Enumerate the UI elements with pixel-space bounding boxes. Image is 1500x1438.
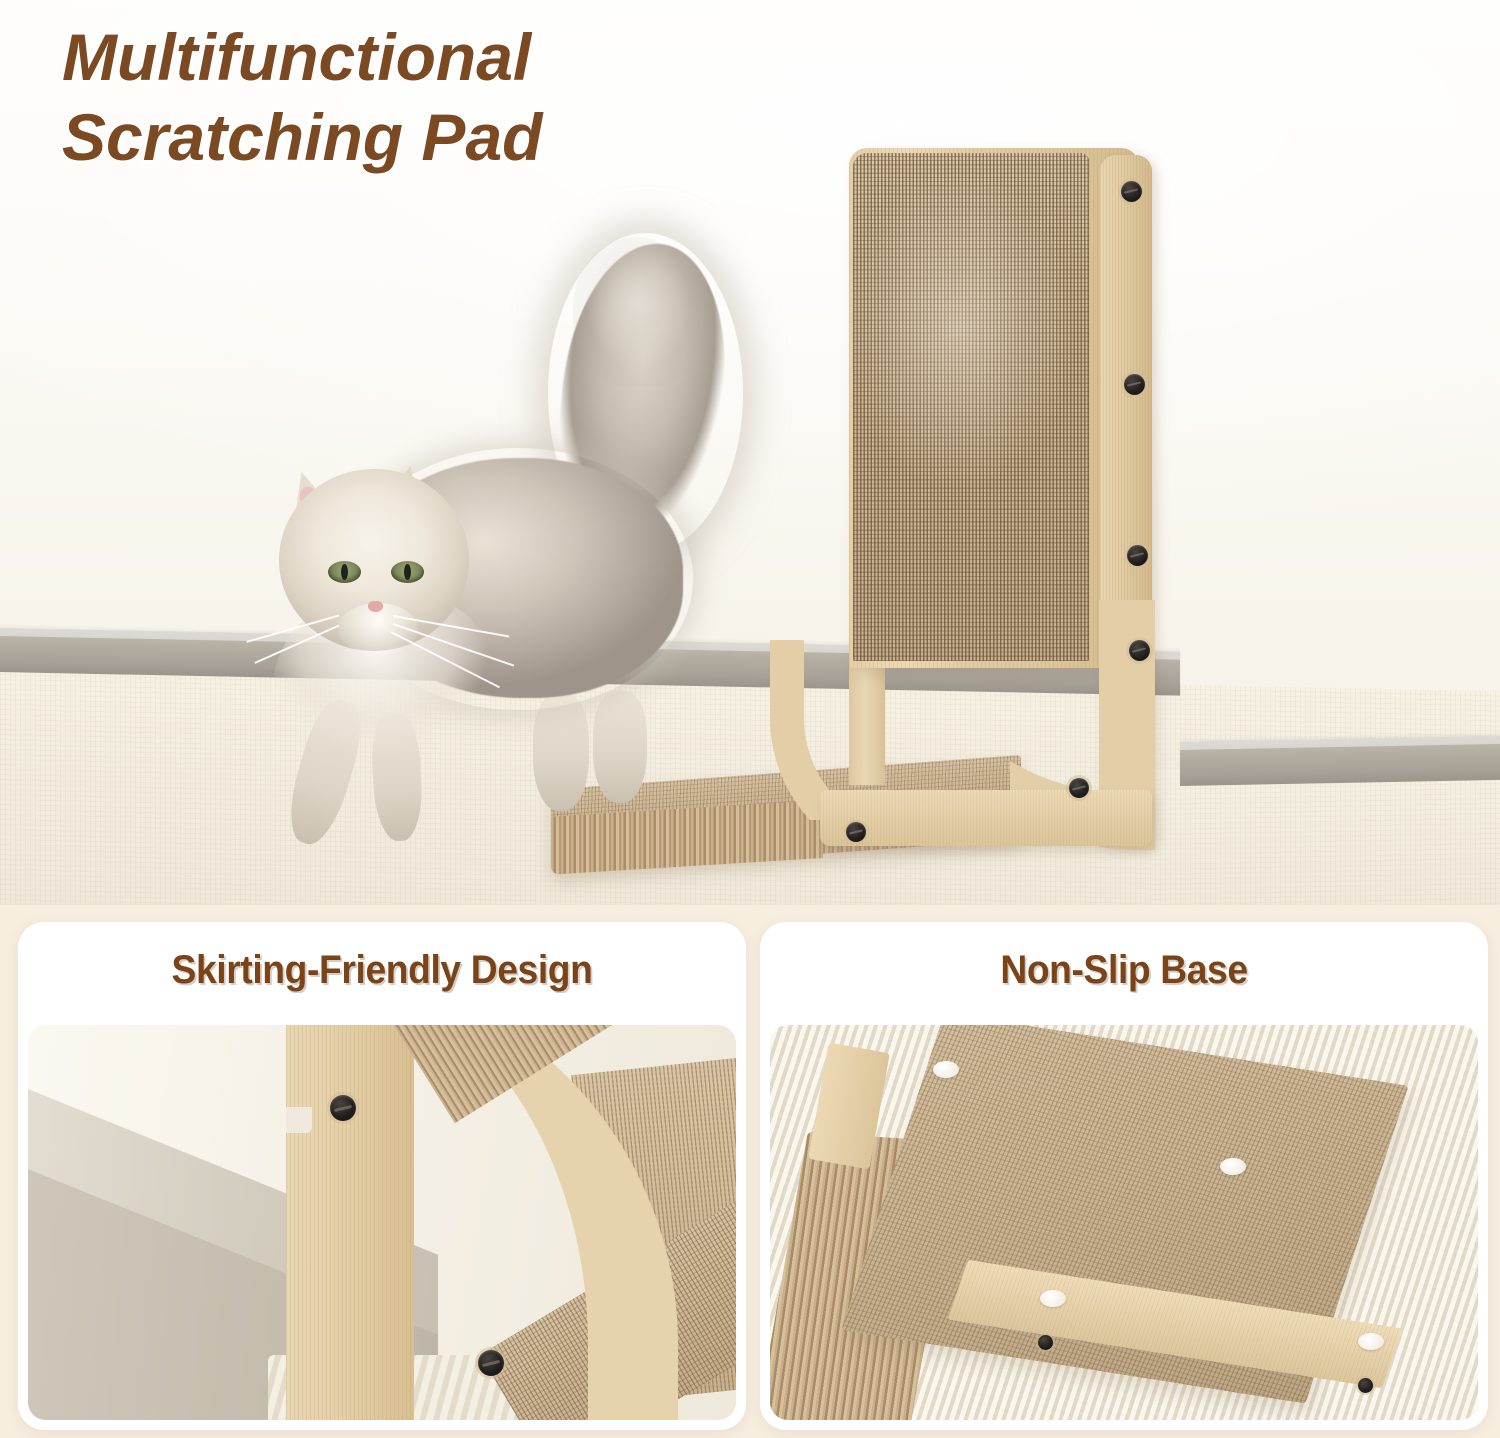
cat-tail-tip	[573, 237, 703, 387]
feature-cards: Skirting-Friendly Design Non-Slip Ba	[0, 905, 1500, 1438]
non-slip-foot-pad	[1220, 1158, 1246, 1175]
page-title-line2: Scratching Pad	[62, 100, 544, 174]
screw-cap-icon	[1124, 374, 1145, 395]
screw-cap-icon	[1127, 545, 1148, 566]
skirting-board-right	[1180, 736, 1500, 786]
cat-eye-right	[391, 561, 424, 583]
wood-grain-texture-foot	[820, 790, 1152, 846]
card-title-nonslip: Non-Slip Base	[785, 948, 1462, 993]
detail-skirting-notch	[286, 1107, 312, 1133]
screw-cap-icon	[846, 822, 866, 842]
cat-back-leg-right	[593, 691, 647, 803]
cat-eye-left	[328, 561, 361, 583]
cat-nose	[368, 601, 383, 612]
cardboard-sheen	[853, 153, 1089, 661]
cat-back-leg-left	[533, 693, 589, 811]
product-infographic: Multifunctional Scratching Pad Skirting-…	[0, 0, 1500, 1438]
screw-cap-icon	[1121, 181, 1142, 202]
non-slip-foot-pad	[1040, 1290, 1066, 1307]
base-wood-foot	[820, 790, 1152, 846]
non-slip-foot-pad	[1358, 1333, 1384, 1350]
detail-wood-side-panel	[286, 1025, 414, 1420]
vertical-cardboard-panel	[853, 153, 1089, 661]
hero-section: Multifunctional Scratching Pad	[0, 0, 1500, 905]
screw-cap-icon	[1038, 1335, 1053, 1350]
card-photo-skirting	[28, 1025, 736, 1420]
screw-cap-icon	[1129, 640, 1150, 661]
screw-cap-icon	[1358, 1378, 1373, 1393]
screw-cap-icon	[1069, 778, 1089, 798]
detail-curved-wood-support	[358, 1025, 736, 1420]
screw-cap-icon	[330, 1095, 356, 1121]
detail-wood-grain	[286, 1025, 414, 1420]
screw-cap-icon	[478, 1350, 504, 1376]
page-title: Multifunctional Scratching Pad	[48, 8, 808, 188]
card-title-skirting: Skirting-Friendly Design	[43, 948, 720, 993]
card-non-slip-base[interactable]: Non-Slip Base	[760, 922, 1488, 1430]
cat-photo	[243, 243, 763, 853]
card-skirting-friendly-design[interactable]: Skirting-Friendly Design	[18, 922, 746, 1430]
card-photo-nonslip	[770, 1025, 1478, 1420]
vertical-scratch-board	[849, 148, 1139, 668]
page-title-line1: Multifunctional	[62, 20, 533, 94]
non-slip-foot-pad	[933, 1061, 959, 1078]
